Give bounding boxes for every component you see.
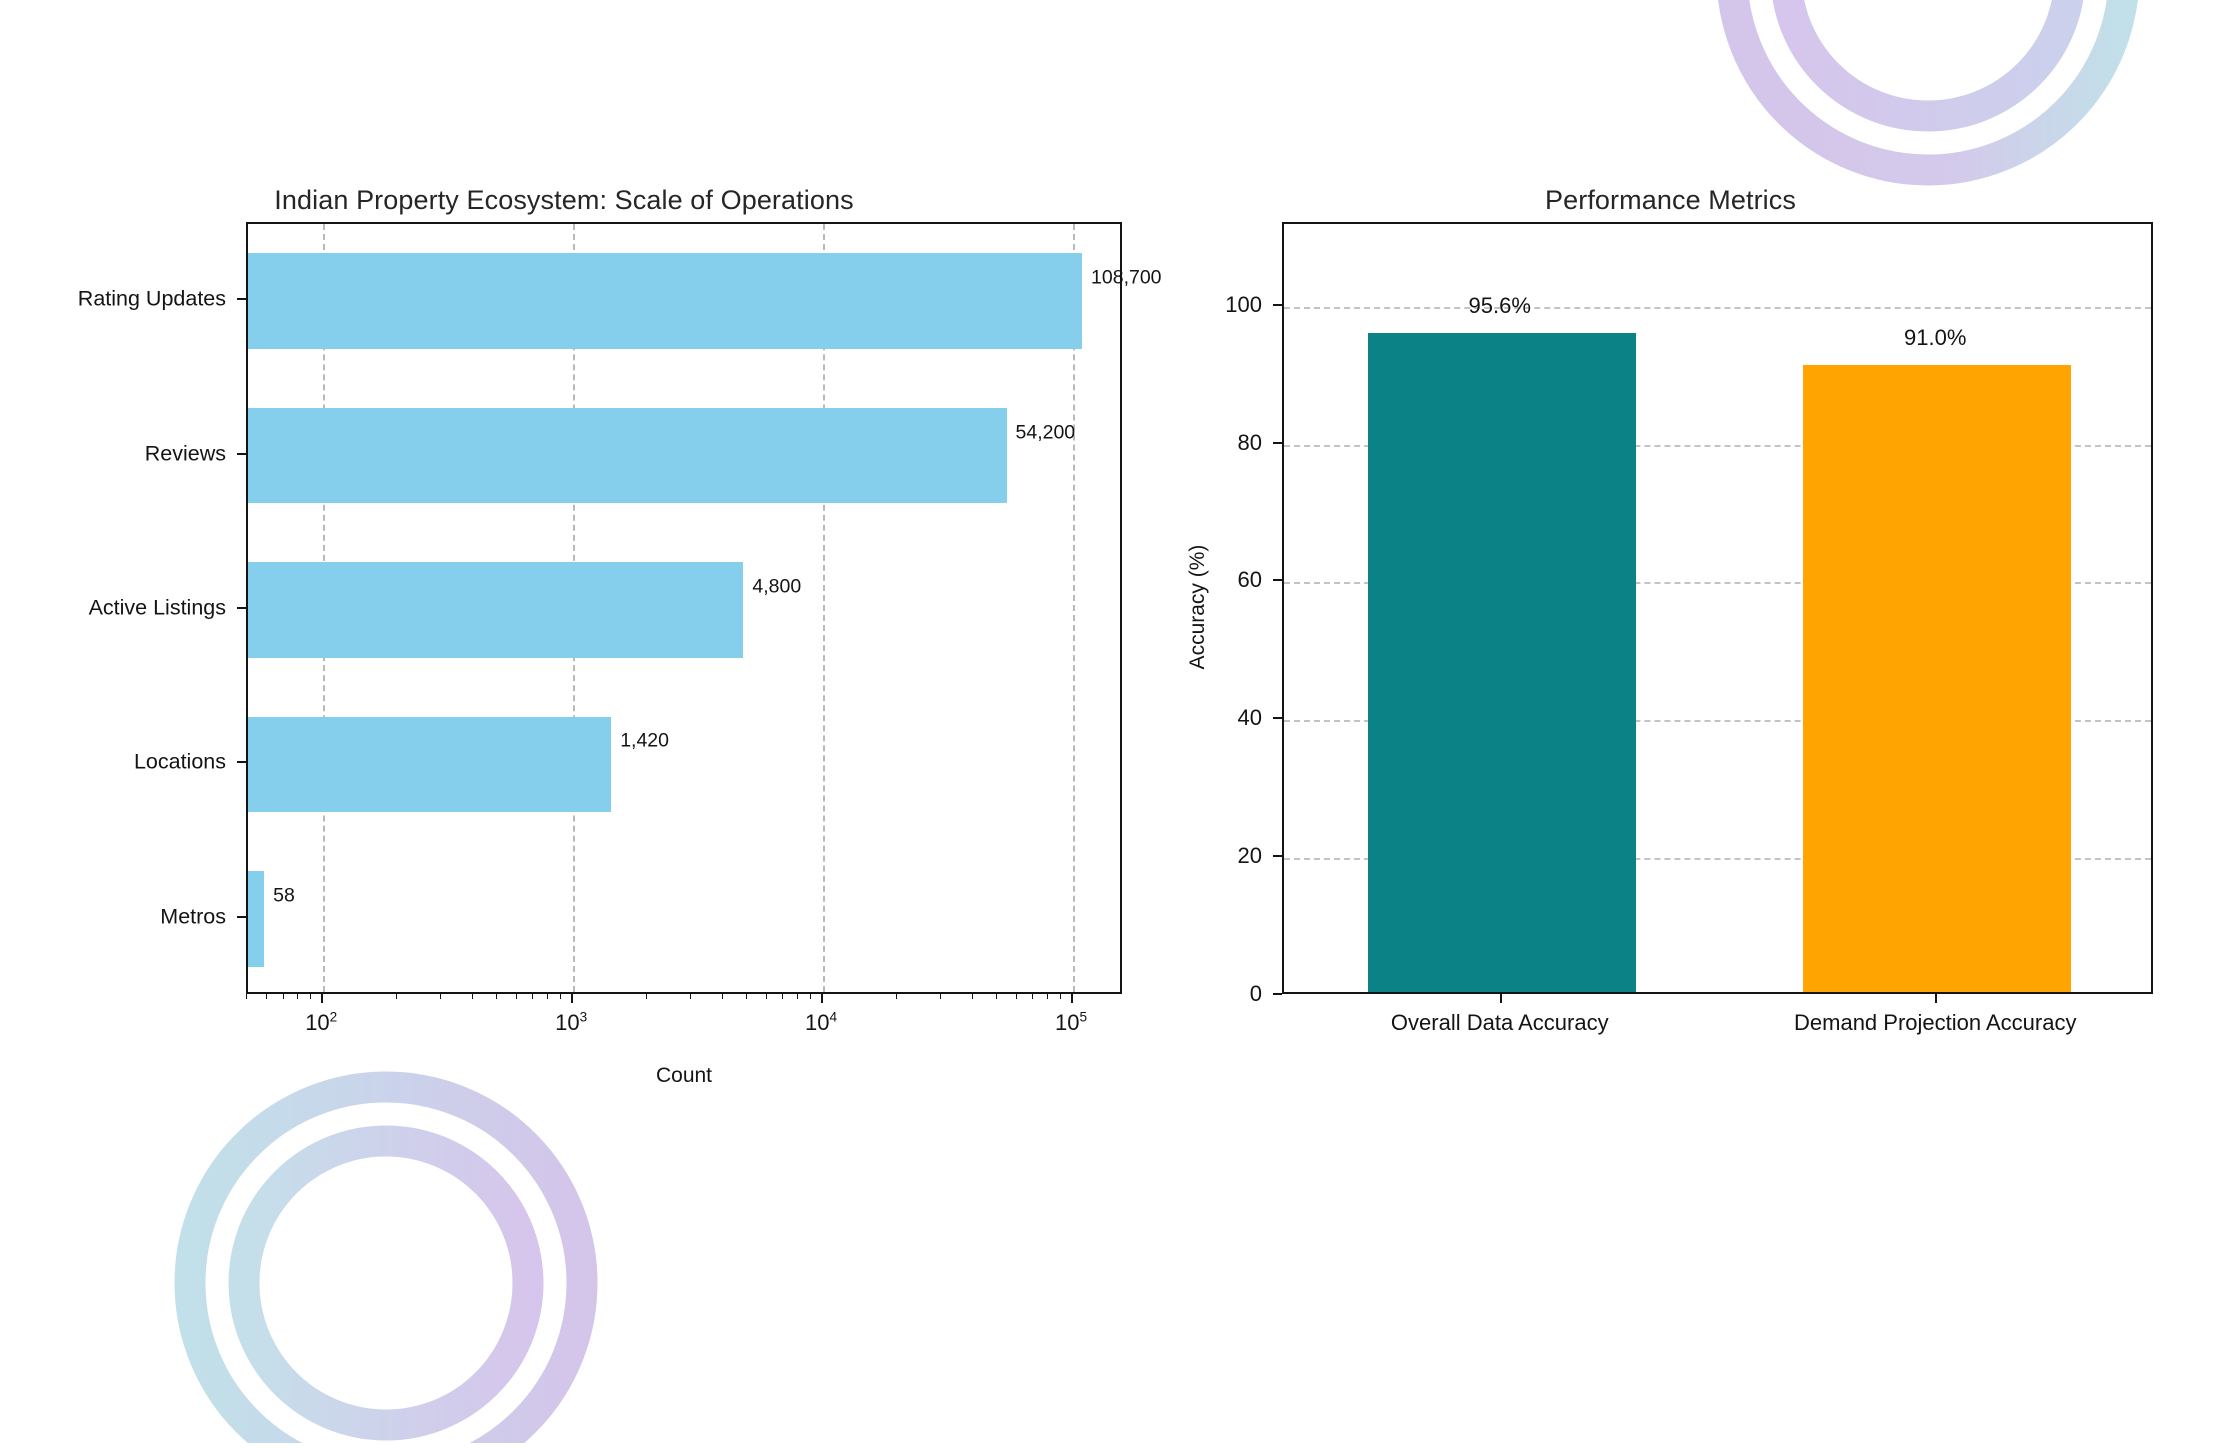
left-x-minor-tick xyxy=(440,994,441,999)
left-y-tick-mark xyxy=(237,761,246,763)
figure-canvas: Indian Property Ecosystem: Scale of Oper… xyxy=(0,0,2225,1257)
left-x-minor-tick xyxy=(266,994,267,999)
left-x-minor-tick xyxy=(1047,994,1048,999)
left-x-minor-tick xyxy=(722,994,723,999)
right-y-tick-label: 100 xyxy=(1160,292,1262,318)
right-y-tick-label: 40 xyxy=(1160,705,1262,731)
left-x-minor-tick xyxy=(972,994,973,999)
left-x-minor-tick xyxy=(246,994,247,999)
chart-panel-performance-metrics: Performance Metrics Accuracy (%) 0204060… xyxy=(1160,0,2225,1110)
left-x-minor-tick xyxy=(496,994,497,999)
left-x-minor-tick xyxy=(532,994,533,999)
left-bar-value-label: 108,700 xyxy=(1091,267,1162,290)
right-y-tick-mark xyxy=(1273,579,1282,581)
left-x-minor-tick xyxy=(746,994,747,999)
right-category-label: Overall Data Accuracy xyxy=(1391,1010,1609,1036)
right-x-tick-mark xyxy=(1500,994,1502,1003)
left-bar xyxy=(248,871,264,967)
left-x-minor-tick xyxy=(766,994,767,999)
right-plot-area xyxy=(1282,222,2153,994)
right-bar-value-label: 95.6% xyxy=(1469,293,1531,319)
left-y-tick-label: Locations xyxy=(0,750,226,775)
right-y-tick-label: 20 xyxy=(1160,843,1262,869)
left-x-minor-tick xyxy=(690,994,691,999)
left-plot-area xyxy=(246,222,1122,994)
left-x-minor-tick xyxy=(940,994,941,999)
right-y-tick-mark xyxy=(1273,442,1282,444)
right-y-tick-mark xyxy=(1273,717,1282,719)
left-bar xyxy=(248,717,611,813)
right-y-tick-label: 60 xyxy=(1160,567,1262,593)
right-y-tick-mark xyxy=(1273,304,1282,306)
right-gridline xyxy=(1284,307,2151,309)
left-x-minor-tick xyxy=(283,994,284,999)
left-y-tick-label: Reviews xyxy=(0,441,226,466)
left-y-tick-label: Metros xyxy=(0,904,226,929)
right-y-axis-title: Accuracy (%) xyxy=(1186,221,1210,993)
right-y-tick-label: 0 xyxy=(1160,981,1262,1007)
left-x-minor-tick xyxy=(1016,994,1017,999)
left-x-axis-title: Count xyxy=(246,1064,1122,1088)
left-bar-value-label: 58 xyxy=(273,884,295,907)
left-bar xyxy=(248,408,1007,504)
left-x-minor-tick xyxy=(996,994,997,999)
left-x-minor-tick xyxy=(560,994,561,999)
right-chart-title: Performance Metrics xyxy=(1138,185,2203,216)
left-y-tick-label: Rating Updates xyxy=(0,287,226,312)
left-x-minor-tick xyxy=(782,994,783,999)
left-x-minor-tick xyxy=(516,994,517,999)
right-y-tick-label: 80 xyxy=(1160,430,1262,456)
left-x-tick-mark xyxy=(1071,994,1073,1003)
right-y-tick-mark xyxy=(1273,855,1282,857)
left-y-tick-label: Active Listings xyxy=(0,596,226,621)
left-y-tick-mark xyxy=(237,298,246,300)
right-x-tick-mark xyxy=(1935,994,1937,1003)
left-x-minor-tick xyxy=(1060,994,1061,999)
left-x-tick-mark xyxy=(321,994,323,1003)
left-bar-value-label: 4,800 xyxy=(752,576,801,599)
left-chart-title: Indian Property Ecosystem: Scale of Oper… xyxy=(0,185,1144,216)
left-y-tick-mark xyxy=(237,453,246,455)
right-bar xyxy=(1368,333,1636,992)
left-x-tick-label: 102 xyxy=(305,1010,337,1036)
left-x-minor-tick xyxy=(396,994,397,999)
left-x-tick-label: 105 xyxy=(1055,1010,1087,1036)
left-x-minor-tick xyxy=(1032,994,1033,999)
right-bar-value-label: 91.0% xyxy=(1904,325,1966,351)
left-x-minor-tick xyxy=(547,994,548,999)
left-x-minor-tick xyxy=(810,994,811,999)
left-x-minor-tick xyxy=(310,994,311,999)
left-bar xyxy=(248,562,743,658)
chart-panel-scale-of-operations: Indian Property Ecosystem: Scale of Oper… xyxy=(0,0,1160,1110)
left-x-minor-tick xyxy=(646,994,647,999)
left-x-tick-label: 103 xyxy=(555,1010,587,1036)
left-y-tick-mark xyxy=(237,916,246,918)
left-x-minor-tick xyxy=(297,994,298,999)
left-bar-value-label: 54,200 xyxy=(1016,421,1076,444)
right-y-tick-mark xyxy=(1273,993,1282,995)
left-bar xyxy=(248,253,1082,349)
left-bar-value-label: 1,420 xyxy=(620,730,669,753)
left-x-tick-mark xyxy=(571,994,573,1003)
left-x-tick-mark xyxy=(821,994,823,1003)
left-x-minor-tick xyxy=(797,994,798,999)
left-y-tick-mark xyxy=(237,607,246,609)
left-x-minor-tick xyxy=(896,994,897,999)
right-bar xyxy=(1803,365,2071,992)
right-category-label: Demand Projection Accuracy xyxy=(1794,1010,2076,1036)
left-x-tick-label: 104 xyxy=(805,1010,837,1036)
left-x-minor-tick xyxy=(472,994,473,999)
